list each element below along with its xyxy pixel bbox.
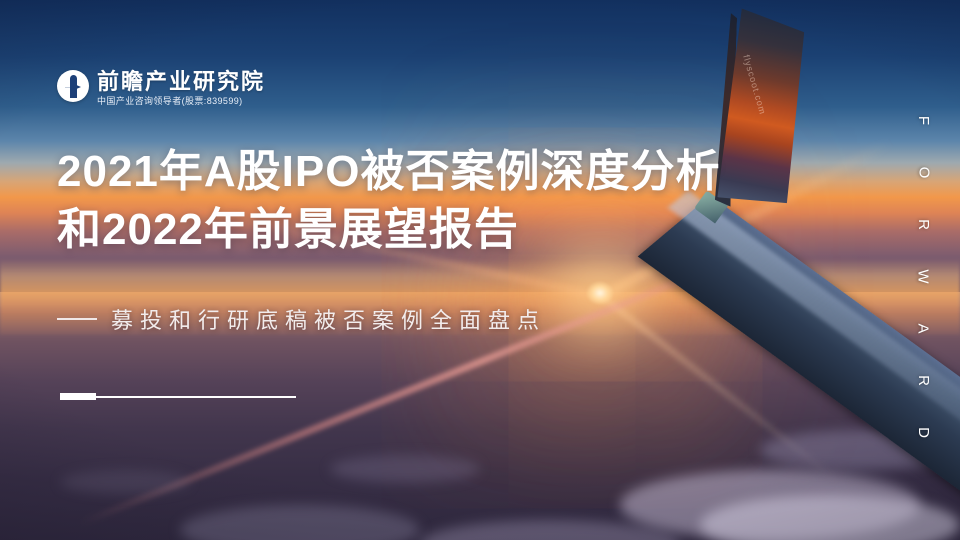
title-line-2: 和2022年前景展望报告 <box>57 201 887 259</box>
forward-letter: R <box>914 375 932 387</box>
divider-thick-segment <box>60 393 96 400</box>
forward-letter: W <box>914 269 932 284</box>
divider-thin-segment <box>96 396 296 398</box>
forward-letter: F <box>914 116 932 126</box>
brand-tagline: 中国产业咨询领导者(股票:839599) <box>97 95 265 107</box>
subtitle-text: 募投和行研底稿被否案例全面盘点 <box>111 303 546 335</box>
brand-logo: 前瞻产业研究院 中国产业咨询领导者(股票:839599) <box>57 69 265 107</box>
forward-arrow-circle-icon <box>57 70 89 102</box>
presentation-cover-slide: flyscoot.com 前瞻产业研究院 中国产业咨询领导者(股票:839599… <box>0 0 960 540</box>
page-title: 2021年A股IPO被否案例深度分析 和2022年前景展望报告 <box>57 143 887 259</box>
subtitle-dash-icon <box>57 318 97 320</box>
forward-letter: D <box>914 427 932 439</box>
brand-logo-text: 前瞻产业研究院 中国产业咨询领导者(股票:839599) <box>97 69 265 107</box>
divider <box>60 393 296 400</box>
brand-name: 前瞻产业研究院 <box>97 69 265 94</box>
forward-letter: O <box>914 167 932 180</box>
forward-letter: A <box>914 323 932 334</box>
vertical-forward-label: F O R W A R D <box>908 112 938 476</box>
forward-letter: R <box>914 219 932 231</box>
title-line-1: 2021年A股IPO被否案例深度分析 <box>57 143 887 201</box>
page-subtitle: 募投和行研底稿被否案例全面盘点 <box>57 303 546 335</box>
